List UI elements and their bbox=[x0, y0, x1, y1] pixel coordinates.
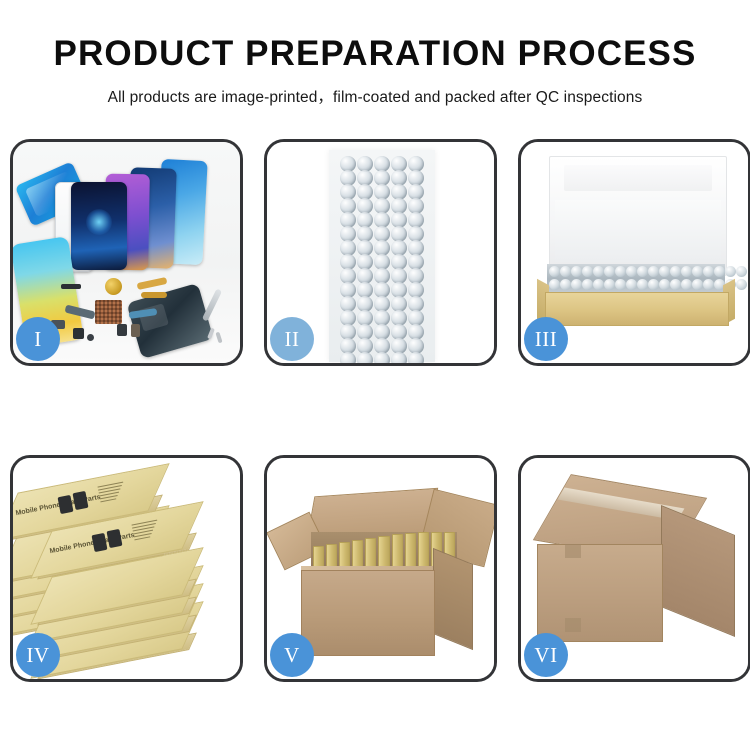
sealed-carton-side bbox=[661, 505, 735, 637]
carton-front-panel bbox=[301, 570, 435, 656]
connector-part-1 bbox=[73, 328, 84, 339]
bubble bbox=[670, 266, 681, 277]
bubble bbox=[626, 279, 637, 290]
bubble bbox=[736, 279, 747, 290]
earpiece-speaker-part bbox=[61, 284, 81, 289]
bubble bbox=[560, 279, 571, 290]
step-card-1[interactable]: I bbox=[10, 139, 243, 366]
camera-module-part bbox=[131, 324, 140, 337]
phone-display-dark bbox=[71, 182, 127, 270]
bubble bbox=[703, 266, 714, 277]
bubble bbox=[582, 266, 593, 277]
phone-back-housing bbox=[126, 283, 213, 359]
bubble bbox=[357, 352, 373, 363]
bubble bbox=[549, 279, 560, 290]
bubble bbox=[648, 266, 659, 277]
bubble bbox=[725, 266, 736, 277]
carton-seam-lower bbox=[565, 618, 581, 632]
step-card-3[interactable]: III bbox=[518, 139, 750, 366]
bubble bbox=[692, 279, 703, 290]
bubble bbox=[648, 279, 659, 290]
bubble bbox=[736, 266, 747, 277]
step-badge-3: III bbox=[524, 317, 568, 361]
step-card-5[interactable]: V bbox=[264, 455, 497, 682]
bubble bbox=[571, 279, 582, 290]
charging-coil-part bbox=[105, 278, 122, 295]
carton-side-panel bbox=[433, 548, 473, 650]
step-badge-1: I bbox=[16, 317, 60, 361]
bubble bbox=[670, 279, 681, 290]
bubble bbox=[604, 266, 615, 277]
bubble-wrap-pouch bbox=[329, 150, 435, 362]
step-badge-2: II bbox=[270, 317, 314, 361]
bubble bbox=[659, 266, 670, 277]
sealed-carton-front bbox=[537, 544, 663, 642]
button-part bbox=[87, 334, 94, 341]
tray-bubble-grid bbox=[549, 266, 723, 292]
bubble bbox=[593, 279, 604, 290]
step-card-6[interactable]: VI bbox=[518, 455, 750, 682]
bubble bbox=[560, 266, 571, 277]
bubble bbox=[681, 279, 692, 290]
bubble bbox=[340, 352, 356, 363]
step-card-4[interactable]: Mobile Phone Spare PartsMobile Phone Spa… bbox=[10, 455, 243, 682]
bubble bbox=[593, 266, 604, 277]
copper-mesh-part bbox=[95, 300, 122, 324]
bubble bbox=[637, 266, 648, 277]
step-card-2[interactable]: II bbox=[264, 139, 497, 366]
screw-part-2 bbox=[215, 332, 222, 344]
bubble bbox=[703, 279, 714, 290]
bubble bbox=[681, 266, 692, 277]
bubble bbox=[374, 352, 390, 363]
foam-insert bbox=[555, 200, 721, 262]
bubble bbox=[408, 352, 424, 363]
bubble bbox=[582, 279, 593, 290]
connector-part-2 bbox=[117, 324, 127, 336]
page-header: PRODUCT PREPARATION PROCESS All products… bbox=[0, 0, 750, 107]
tweezers-tool bbox=[202, 288, 222, 321]
bubble bbox=[571, 266, 582, 277]
bubble bbox=[615, 266, 626, 277]
step-badge-4: IV bbox=[16, 633, 60, 677]
bubble bbox=[604, 279, 615, 290]
step-badge-6: VI bbox=[524, 633, 568, 677]
bubble bbox=[714, 266, 725, 277]
bubble bbox=[659, 279, 670, 290]
bubble bbox=[637, 279, 648, 290]
kraft-box-front bbox=[545, 292, 729, 326]
page-title: PRODUCT PREPARATION PROCESS bbox=[0, 36, 750, 71]
process-steps-grid: I II III bbox=[10, 139, 750, 682]
bubble-grid bbox=[339, 156, 425, 356]
bubble bbox=[615, 279, 626, 290]
carton-seam-upper bbox=[565, 544, 581, 558]
step-badge-5: V bbox=[270, 633, 314, 677]
bubble bbox=[692, 266, 703, 277]
flex-cable-part-2 bbox=[141, 292, 167, 298]
bubble bbox=[549, 266, 560, 277]
bubble bbox=[391, 352, 407, 363]
flex-cable-part-1 bbox=[137, 277, 168, 290]
page-subtitle: All products are image-printed，film-coat… bbox=[0, 85, 750, 107]
bubble bbox=[626, 266, 637, 277]
